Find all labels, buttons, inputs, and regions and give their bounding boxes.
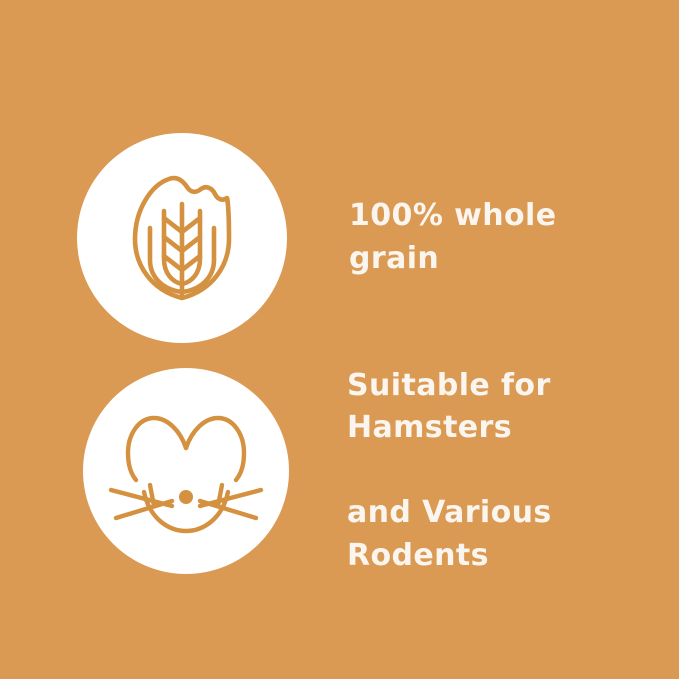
feature-row-suitable-rodents: Suitable for Hamsters and Various Rodent… bbox=[83, 368, 663, 574]
feature-label-line: and Various Rodents bbox=[347, 492, 663, 577]
icon-badge-whole-grain bbox=[77, 133, 287, 343]
feature-row-whole-grain: 100% whole grain bbox=[77, 133, 657, 343]
feature-label-suitable-rodents: Suitable for Hamsters and Various Rodent… bbox=[347, 322, 663, 620]
feature-infographic: 100% whole grain bbox=[0, 0, 679, 679]
feature-label-line: 100% whole grain bbox=[349, 195, 657, 280]
hamster-rodent-face-icon bbox=[106, 396, 266, 546]
feature-label-whole-grain: 100% whole grain bbox=[349, 153, 657, 323]
wheat-grain-leaf-icon bbox=[107, 163, 257, 313]
icon-badge-suitable-rodents bbox=[83, 368, 289, 574]
feature-label-line: Suitable for Hamsters bbox=[347, 365, 663, 450]
